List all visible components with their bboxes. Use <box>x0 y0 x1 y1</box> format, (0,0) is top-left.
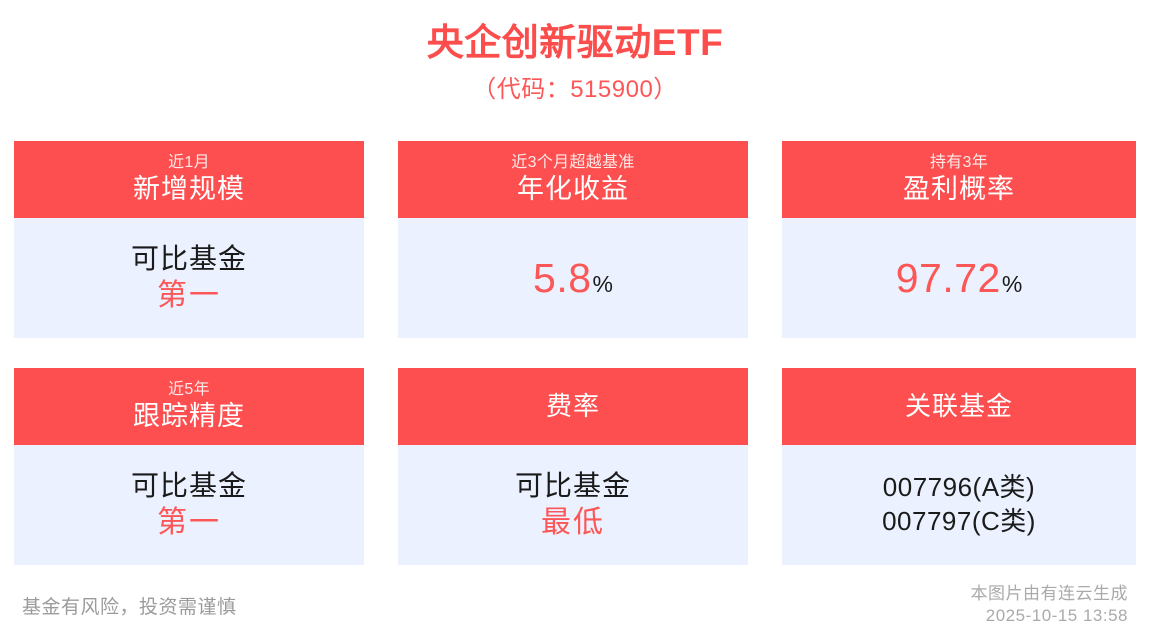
related-fund-code-c: 007797(C类) <box>882 505 1036 539</box>
metric-unit: % <box>1002 273 1022 296</box>
risk-disclaimer: 基金有风险，投资需谨慎 <box>22 578 237 619</box>
metric-card-new-scale: 近1月 新增规模 可比基金 第一 <box>14 141 364 338</box>
metric-card-profit-probability: 持有3年 盈利概率 97.72 % <box>782 141 1136 338</box>
card-header-small: 近5年 <box>168 380 210 399</box>
card-body: 可比基金 第一 <box>14 445 364 565</box>
metric-unit: % <box>593 273 613 296</box>
etf-info-poster: 央企创新驱动ETF （代码：515900） 近1月 新增规模 可比基金 第一 近… <box>0 0 1150 632</box>
card-header-large: 跟踪精度 <box>133 401 245 433</box>
credit-timestamp: 2025-10-15 13:58 <box>971 605 1129 627</box>
metrics-grid: 近1月 新增规模 可比基金 第一 近3个月超越基准 年化收益 5.8 % <box>14 141 1136 565</box>
card-header: 持有3年 盈利概率 <box>782 141 1136 218</box>
card-header-small: 近1月 <box>168 153 210 172</box>
card-header-large: 新增规模 <box>133 174 245 206</box>
credit-source: 本图片由有连云生成 <box>971 583 1129 605</box>
card-body: 5.8 % <box>398 218 748 338</box>
card-header: 近3个月超越基准 年化收益 <box>398 141 748 218</box>
fund-code-subtitle: （代码：515900） <box>0 74 1150 105</box>
card-header-large: 年化收益 <box>517 174 629 206</box>
card-body: 97.72 % <box>782 218 1136 338</box>
card-body-label: 可比基金 <box>515 469 631 502</box>
card-body: 可比基金 第一 <box>14 218 364 338</box>
card-body-highlight: 第一 <box>157 278 221 314</box>
footer: 基金有风险，投资需谨慎 本图片由有连云生成 2025-10-15 13:58 <box>0 578 1150 632</box>
card-header: 费率 <box>398 368 748 445</box>
metric-card-tracking-accuracy: 近5年 跟踪精度 可比基金 第一 <box>14 368 364 565</box>
metric-readout: 5.8 % <box>533 258 613 299</box>
card-header: 近5年 跟踪精度 <box>14 368 364 445</box>
card-header: 关联基金 <box>782 368 1136 445</box>
card-body-highlight: 第一 <box>157 505 221 541</box>
page-title: 央企创新驱动ETF <box>0 22 1150 65</box>
card-body-label: 可比基金 <box>131 242 247 275</box>
metric-readout: 97.72 % <box>896 258 1023 299</box>
card-header-large: 盈利概率 <box>903 174 1015 206</box>
metric-card-related-funds: 关联基金 007796(A类) 007797(C类) <box>782 368 1136 565</box>
card-header: 近1月 新增规模 <box>14 141 364 218</box>
related-fund-code-a: 007796(A类) <box>883 471 1035 505</box>
card-body: 可比基金 最低 <box>398 445 748 565</box>
card-header-large: 关联基金 <box>905 391 1013 422</box>
card-header-small: 持有3年 <box>930 153 988 172</box>
image-credit: 本图片由有连云生成 2025-10-15 13:58 <box>971 578 1129 627</box>
card-body-label: 可比基金 <box>131 469 247 502</box>
card-header-small: 近3个月超越基准 <box>511 153 634 172</box>
card-body: 007796(A类) 007797(C类) <box>782 445 1136 565</box>
card-body-highlight: 最低 <box>541 505 605 541</box>
card-header-large: 费率 <box>546 391 600 422</box>
metric-card-fee-rate: 费率 可比基金 最低 <box>398 368 748 565</box>
metric-value: 5.8 <box>533 258 592 299</box>
metric-card-annualized-return: 近3个月超越基准 年化收益 5.8 % <box>398 141 748 338</box>
title-block: 央企创新驱动ETF （代码：515900） <box>0 0 1150 105</box>
metric-value: 97.72 <box>896 258 1001 299</box>
